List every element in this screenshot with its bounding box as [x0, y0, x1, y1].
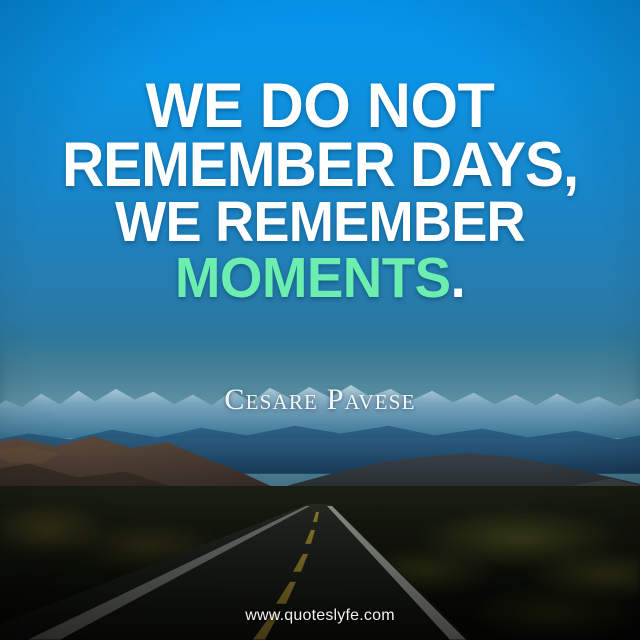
author-attribution: Cesare Pavese [0, 383, 640, 417]
quote-line-3: we remember [24, 197, 617, 248]
site-watermark: www.quoteslyfe.com [0, 607, 640, 625]
quote-highlight-word: moments [175, 246, 451, 310]
quote-line-4: moments. [20, 253, 619, 304]
quote-text: We do not remember days, we remember mom… [0, 78, 640, 304]
quote-card: We do not remember days, we remember mom… [0, 0, 640, 640]
quote-line-2: remember days, [30, 137, 610, 194]
quote-line-1: We do not [17, 78, 622, 135]
quote-final-period: . [451, 246, 466, 310]
